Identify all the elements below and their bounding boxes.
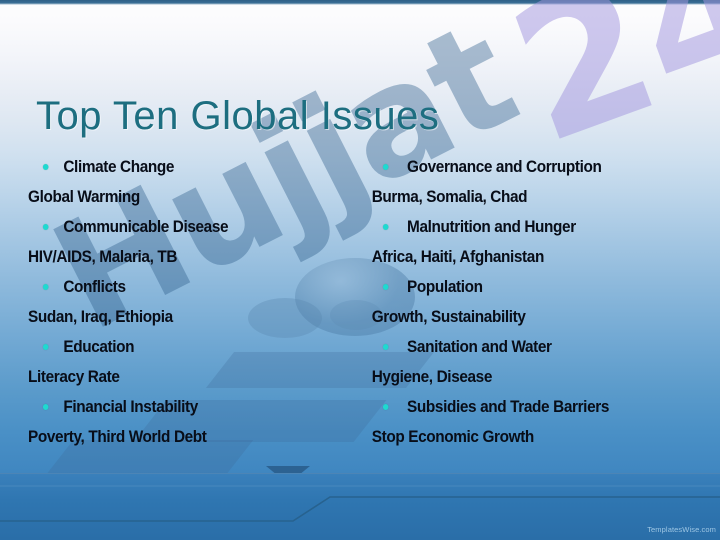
bullet-item: Communicable Disease	[28, 212, 329, 242]
sub-line-item: Growth, Sustainability	[368, 302, 688, 332]
bullet-dot-icon	[383, 344, 389, 350]
item-label: Literacy Rate	[28, 368, 120, 386]
sub-line-item: Burma, Somalia, Chad	[368, 182, 688, 212]
bullet-item: Malnutrition and Hunger	[368, 212, 688, 242]
sub-line-item: Poverty, Third World Debt	[28, 422, 329, 452]
sub-line-item: HIV/AIDS, Malaria, TB	[28, 242, 329, 272]
bullet-item: Education	[28, 332, 329, 362]
item-label: Poverty, Third World Debt	[28, 428, 207, 446]
bullet-dot-icon	[43, 284, 49, 290]
item-label: Global Warming	[28, 188, 140, 206]
item-label: Stop Economic Growth	[372, 428, 534, 446]
bullet-dot-icon	[383, 284, 389, 290]
sub-line-item: Stop Economic Growth	[368, 422, 688, 452]
item-label: Education	[63, 338, 134, 356]
bullet-item: Conflicts	[28, 272, 329, 302]
item-label: Subsidies and Trade Barriers	[407, 398, 609, 416]
bullet-dot-icon	[383, 164, 389, 170]
bullet-item: Subsidies and Trade Barriers	[368, 392, 688, 422]
bullet-dot-icon	[43, 224, 49, 230]
bullet-item: Sanitation and Water	[368, 332, 688, 362]
page-title: Top Ten Global Issues	[36, 94, 439, 139]
item-label: Growth, Sustainability	[372, 308, 526, 326]
template-credit: TemplatesWise.com	[647, 525, 716, 534]
left-column: Climate ChangeGlobal WarmingCommunicable…	[0, 152, 360, 452]
sub-line-item: Hygiene, Disease	[368, 362, 688, 392]
sub-line-item: Sudan, Iraq, Ethiopia	[28, 302, 329, 332]
bullet-dot-icon	[383, 224, 389, 230]
bullet-dot-icon	[43, 164, 49, 170]
sub-line-item: Africa, Haiti, Afghanistan	[368, 242, 688, 272]
item-label: Financial Instability	[63, 398, 198, 416]
bullet-dot-icon	[43, 344, 49, 350]
item-label: HIV/AIDS, Malaria, TB	[28, 248, 177, 266]
bullet-item: Governance and Corruption	[368, 152, 688, 182]
item-label: Africa, Haiti, Afghanistan	[372, 248, 544, 266]
item-label: Population	[407, 278, 483, 296]
stepped-line-decoration	[0, 474, 720, 540]
presentation-slide: 24 Hujjat Top Ten Global Issues Climate …	[0, 0, 720, 540]
item-label: Governance and Corruption	[407, 158, 601, 176]
item-label: Hygiene, Disease	[372, 368, 492, 386]
item-label: Sudan, Iraq, Ethiopia	[28, 308, 173, 326]
sub-line-item: Literacy Rate	[28, 362, 329, 392]
item-label: Communicable Disease	[63, 218, 228, 236]
item-label: Climate Change	[63, 158, 174, 176]
item-label: Malnutrition and Hunger	[407, 218, 576, 236]
bullet-item: Financial Instability	[28, 392, 329, 422]
right-column: Governance and CorruptionBurma, Somalia,…	[360, 152, 720, 452]
content-columns: Climate ChangeGlobal WarmingCommunicable…	[0, 152, 720, 452]
bullet-dot-icon	[383, 404, 389, 410]
sub-line-item: Global Warming	[28, 182, 329, 212]
item-label: Burma, Somalia, Chad	[372, 188, 527, 206]
bullet-item: Population	[368, 272, 688, 302]
item-label: Conflicts	[63, 278, 125, 296]
bullet-dot-icon	[43, 404, 49, 410]
bottom-band: TemplatesWise.com	[0, 473, 720, 540]
item-label: Sanitation and Water	[407, 338, 552, 356]
bullet-item: Climate Change	[28, 152, 329, 182]
